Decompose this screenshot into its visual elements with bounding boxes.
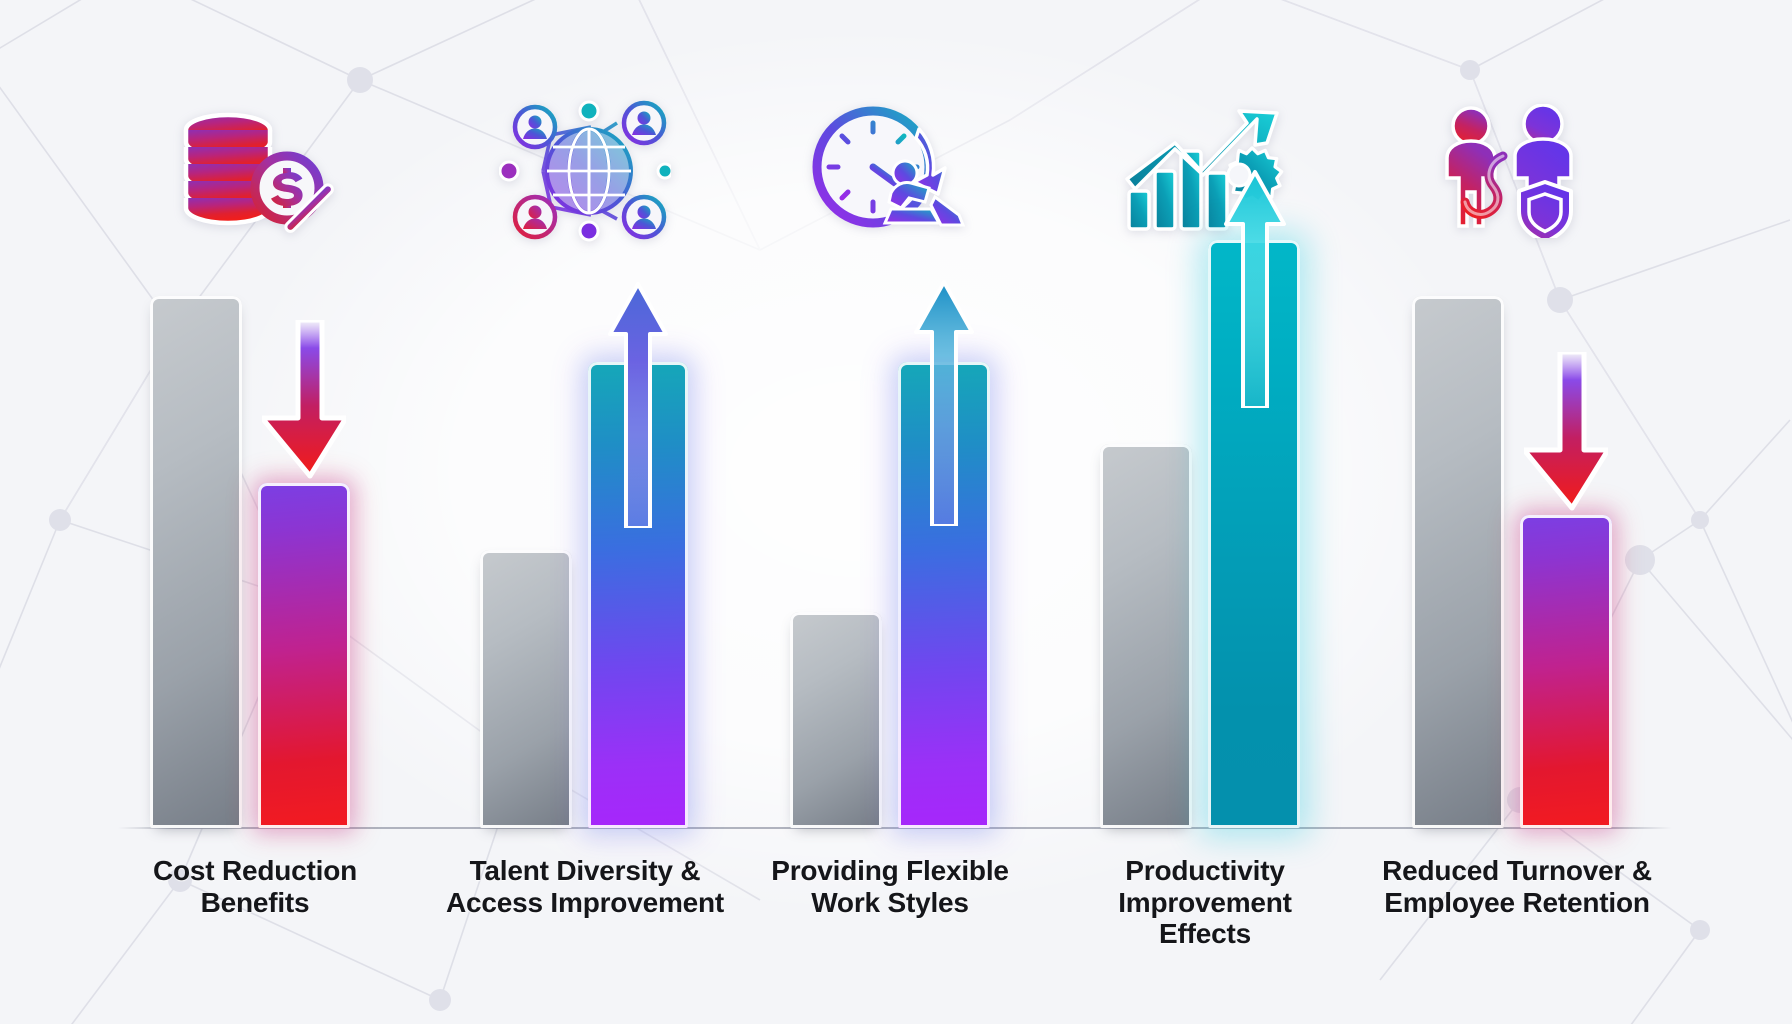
group-label-flexible-work: Providing Flexible Work Styles — [750, 855, 1030, 918]
bars-flexible-work — [790, 268, 990, 828]
group-label-productivity: Productivity Improvement Effects — [1060, 855, 1350, 950]
bar-before-talent-diversity — [480, 550, 572, 828]
decrease-arrow-retention — [1524, 352, 1608, 512]
bar-before-cost-reduction — [150, 296, 242, 828]
bar-after-retention — [1520, 515, 1612, 828]
bars-talent-diversity — [480, 268, 690, 828]
people-shield-retention-icon — [1412, 78, 1622, 263]
group-label-retention: Reduced Turnover & Employee Retention — [1372, 855, 1662, 918]
globe-network-people-icon — [480, 78, 690, 263]
bar-before-retention — [1412, 296, 1504, 828]
group-label-cost-reduction: Cost Reduction Benefits — [110, 855, 400, 918]
bars-cost-reduction — [150, 268, 360, 828]
bar-after-productivity — [1208, 240, 1300, 828]
bar-after-talent-diversity — [588, 362, 688, 828]
bar-group-cost-reduction: Cost Reduction Benefits — [150, 0, 360, 1024]
bar-before-flexible-work — [790, 612, 882, 828]
bars-productivity — [1100, 268, 1310, 828]
bar-group-talent-diversity: Talent Diversity & Access Improvement — [480, 0, 690, 1024]
group-label-talent-diversity: Talent Diversity & Access Improvement — [440, 855, 730, 918]
chart-stage: Cost Reduction Benefits — [0, 0, 1792, 1024]
decrease-arrow-cost-reduction — [262, 320, 346, 480]
bars-retention — [1412, 268, 1622, 828]
bar-group-productivity: Productivity Improvement Effects — [1100, 0, 1310, 1024]
bar-group-flexible-work: Providing Flexible Work Styles — [790, 0, 990, 1024]
clock-remote-worker-icon — [790, 78, 990, 263]
bar-after-flexible-work — [898, 362, 990, 828]
bar-after-cost-reduction — [258, 483, 350, 828]
growth-chart-gear-icon — [1100, 78, 1310, 263]
bar-before-productivity — [1100, 444, 1192, 828]
coins-no-dollar-icon — [150, 78, 360, 263]
bar-group-retention: Reduced Turnover & Employee Retention — [1412, 0, 1622, 1024]
